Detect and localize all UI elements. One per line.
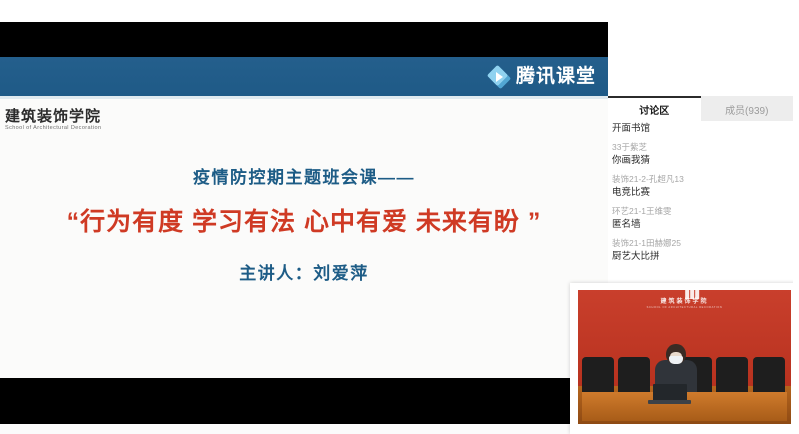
list-item: 装饰21-1田赫娜25 厨艺大比拼 <box>612 237 789 264</box>
player-letterbox-bottom <box>0 378 608 424</box>
laptop <box>653 384 687 401</box>
tencent-classroom-brand: 腾讯课堂 <box>488 66 596 87</box>
page-top-strip <box>0 0 799 22</box>
wall-school-logo: 建筑装饰学院 SCHOOL OF ARCHITECTURAL DECORATIO… <box>647 299 723 310</box>
list-item: 环艺21-1王维雯 匿名墙 <box>612 205 789 232</box>
chat-message-user: 环艺21-1王维雯 <box>612 205 789 218</box>
chat-message-text: 开面书馆 <box>612 122 789 136</box>
list-item: 装饰21-2-孔超凡13 电竞比赛 <box>612 173 789 200</box>
slide-header-underline <box>0 96 608 99</box>
chat-message-text: 厨艺大比拼 <box>612 250 789 264</box>
play-diamond-icon <box>488 66 509 87</box>
slide-headline: “行为有度 学习有法 心中有爱 未来有盼 ” <box>0 202 608 238</box>
page-right-edge <box>793 0 799 434</box>
face-mask-icon <box>669 356 684 363</box>
chat-message-text: 电竞比赛 <box>612 186 789 200</box>
chat-message-user: 装饰21-2-孔超凡13 <box>612 173 789 186</box>
tab-discussion-label: 讨论区 <box>639 102 669 117</box>
brand-label: 腾讯课堂 <box>516 67 596 86</box>
school-logo: 建筑装饰学院 School of Architectural Decoratio… <box>5 109 101 132</box>
list-item: 开面书馆 <box>612 122 789 136</box>
panel-tabs: 讨论区 成员(939) <box>608 96 793 121</box>
laptop-base <box>648 400 691 404</box>
school-logo-cn: 建筑装饰学院 <box>5 109 101 124</box>
slide-subtitle: 疫情防控期主题班会课—— <box>0 163 608 188</box>
chat-message-list[interactable]: 开面书馆 33于紫芝 你画我猜 装饰21-2-孔超凡13 电竞比赛 环艺21-1… <box>608 122 793 269</box>
player-letterbox-top <box>0 22 608 57</box>
chat-message-user: 装饰21-1田赫娜25 <box>612 237 789 250</box>
presenter-webcam[interactable]: 建筑装饰学院 SCHOOL OF ARCHITECTURAL DECORATIO… <box>570 283 799 434</box>
webcam-video: 建筑装饰学院 SCHOOL OF ARCHITECTURAL DECORATIO… <box>578 290 791 424</box>
shared-slide[interactable]: 腾讯课堂 建筑装饰学院 School of Architectural Deco… <box>0 57 608 378</box>
tab-discussion[interactable]: 讨论区 <box>608 96 701 121</box>
tab-members[interactable]: 成员(939) <box>701 96 794 121</box>
wall-logo-en: SCHOOL OF ARCHITECTURAL DECORATION <box>647 307 723 310</box>
list-item: 33于紫芝 你画我猜 <box>612 141 789 168</box>
wall-logo-cn: 建筑装饰学院 <box>647 299 723 305</box>
chat-message-text: 匿名墙 <box>612 218 789 232</box>
chat-message-text: 你画我猜 <box>612 154 789 168</box>
slide-speaker: 主讲人：刘爱萍 <box>0 259 608 284</box>
screen: 腾讯课堂 建筑装饰学院 School of Architectural Deco… <box>0 0 799 434</box>
right-panel-top-fill <box>608 22 793 96</box>
chat-message-user: 33于紫芝 <box>612 141 789 154</box>
slide-header-band: 腾讯课堂 <box>0 57 608 96</box>
school-logo-en: School of Architectural Decoration <box>5 126 101 132</box>
player-bottom-edge <box>0 424 608 434</box>
tab-members-label: 成员(939) <box>725 102 768 117</box>
